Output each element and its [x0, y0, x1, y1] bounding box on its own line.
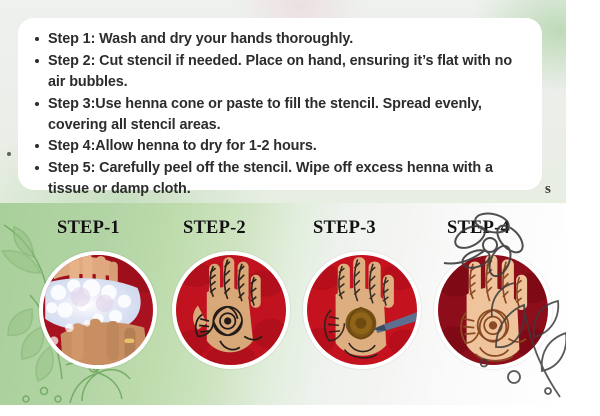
finished-henna-photo-icon	[438, 255, 548, 365]
instructions-panel: Step 1: Wash and dry your hands thorough…	[0, 0, 566, 207]
instruction-step-list: Step 1: Wash and dry your hands thorough…	[32, 29, 526, 200]
step-photo-2	[172, 251, 290, 369]
step-photo-4	[434, 251, 552, 369]
stencil-on-hand-photo-icon	[176, 255, 286, 365]
step-label-3: STEP-3	[313, 218, 376, 239]
product-instruction-image: Step 1: Wash and dry your hands thorough…	[0, 0, 600, 416]
steps-strip-panel: STEP-1	[0, 203, 566, 405]
step-photo-1	[39, 251, 157, 369]
instruction-step: Step 5: Carefully peel off the stencil. …	[32, 158, 526, 200]
step-label-1: STEP-1	[57, 218, 120, 239]
applying-henna-photo-icon	[307, 255, 417, 365]
steps-panel-right-margin	[566, 203, 600, 405]
instruction-step: Step 2: Cut stencil if needed. Place on …	[32, 51, 526, 93]
hands-washing-photo-icon	[43, 255, 153, 365]
top-panel-right-margin	[566, 0, 600, 207]
instruction-step: Step 3:Use henna cone or paste to fill t…	[32, 94, 526, 136]
stray-glyph-artifact: s	[545, 181, 551, 198]
step-photo-3	[303, 251, 421, 369]
instruction-card: Step 1: Wash and dry your hands thorough…	[18, 18, 542, 190]
instruction-step: Step 4:Allow henna to dry for 1-2 hours.	[32, 136, 526, 157]
stray-bullet-artifact	[7, 152, 11, 156]
bottom-white-margin	[0, 405, 600, 416]
step-label-4: STEP-4	[447, 218, 510, 239]
step-label-2: STEP-2	[183, 218, 246, 239]
instruction-step: Step 1: Wash and dry your hands thorough…	[32, 29, 526, 50]
